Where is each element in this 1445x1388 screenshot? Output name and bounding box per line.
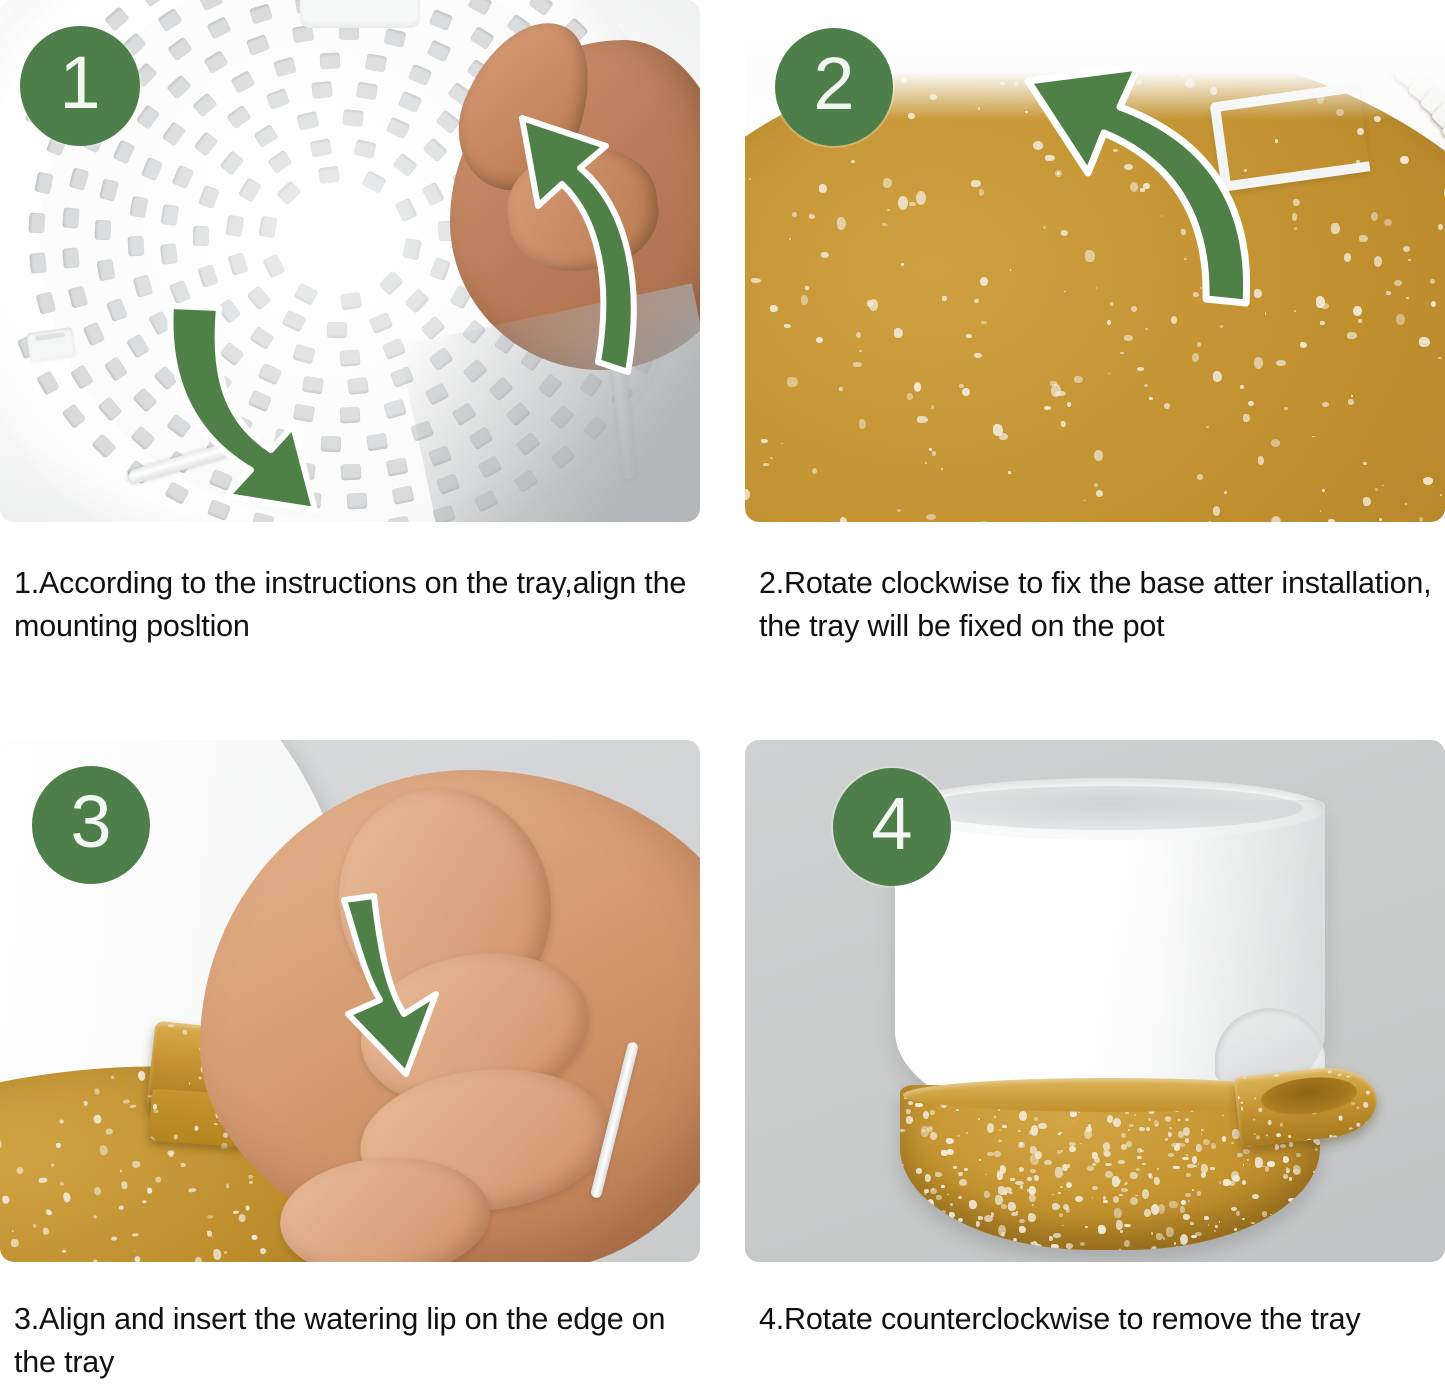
tray-speckle (1337, 1073, 1342, 1077)
tray-speckle (1243, 1076, 1246, 1079)
tray-speckle (213, 1249, 222, 1260)
tray-speckle (199, 1077, 202, 1080)
tray-hole (394, 197, 417, 222)
tray-hole (198, 185, 220, 209)
tray-speckle (959, 384, 964, 388)
tray-speckle (1053, 1233, 1061, 1237)
tray-speckle (979, 189, 985, 196)
tray-speckle (789, 238, 791, 240)
tray-speckle (974, 353, 983, 358)
tray-hole (129, 196, 148, 219)
tray-speckle (978, 1216, 983, 1219)
tray-speckle (1157, 1168, 1159, 1170)
tray-speckle (1027, 1177, 1032, 1181)
tray-speckle (1242, 1244, 1246, 1247)
tray-speckle (1156, 1233, 1163, 1240)
tray-speckle (924, 1189, 929, 1194)
tray-speckle (869, 299, 878, 310)
tray-speckle (260, 1248, 266, 1254)
tray-hole (105, 7, 131, 32)
tray-speckle (1214, 1230, 1217, 1232)
tray-speckle (1080, 1242, 1085, 1246)
tray-speckle (941, 468, 944, 470)
tray-speckle (1240, 1101, 1243, 1104)
tray-speckle (1018, 1142, 1025, 1148)
tray-speckle (770, 457, 773, 459)
tray-hole (126, 333, 150, 358)
tray-hole (194, 131, 219, 157)
tray-speckle (84, 1101, 88, 1106)
tray-speckle (1317, 1240, 1320, 1245)
tray-speckle (1201, 1164, 1208, 1173)
tray-hole (384, 27, 407, 47)
tray-speckle (1137, 1148, 1142, 1154)
tray-speckle (819, 184, 827, 193)
tray-speckle (1019, 1226, 1026, 1233)
tray-speckle (997, 1170, 1001, 1173)
tray-speckle (1232, 1175, 1240, 1183)
tray-speckle (1315, 1148, 1318, 1151)
tray-speckle (33, 1224, 37, 1228)
tray-speckle (929, 448, 932, 451)
tray-speckle (129, 1104, 136, 1108)
tray-hole (408, 63, 433, 86)
tray-speckle (1146, 1127, 1150, 1131)
step-1: 1 1.According to the instructions on the… (0, 0, 700, 670)
tray-speckle (1120, 1230, 1124, 1233)
tray-speckle (1015, 1181, 1023, 1186)
tray-speckle (1052, 1194, 1055, 1195)
tray-speckle (1183, 1214, 1190, 1219)
tray-speckle (122, 1099, 130, 1104)
tray-speckle (1121, 1188, 1128, 1192)
tray-speckle (1198, 1163, 1200, 1165)
tray-speckle (188, 1188, 196, 1193)
tray-speckle (111, 1076, 115, 1079)
tray-speckle (935, 1172, 942, 1177)
tray-hole (135, 104, 160, 130)
tray-speckle (1346, 1075, 1350, 1077)
tray-speckle (168, 1152, 173, 1157)
infographic-sheet: 1 1.According to the instructions on the… (0, 0, 1445, 1388)
tray-speckle (1087, 1166, 1093, 1171)
tray-speckle (1319, 1180, 1320, 1183)
tray-speckle (1192, 1156, 1197, 1164)
tray-speckle (979, 1159, 982, 1161)
tray-hole (392, 153, 418, 178)
tray-speckle (931, 405, 934, 408)
tray-speckle (1058, 1192, 1060, 1194)
tray-hole (320, 52, 341, 69)
tray-speckle (1268, 1241, 1274, 1245)
tray-speckle (1165, 1138, 1169, 1142)
tray-speckle (1242, 1180, 1246, 1185)
tray-speckle (1080, 1143, 1082, 1144)
tray-speckle (1338, 1115, 1343, 1120)
tray-speckle (1124, 1240, 1130, 1248)
tray-speckle (1243, 1164, 1245, 1166)
tray-speckle (1116, 1220, 1123, 1229)
tray-hole (166, 74, 192, 99)
tray-speckle (60, 1182, 64, 1186)
tray-speckle (917, 416, 927, 423)
tray-speckle (958, 1218, 963, 1222)
tray-speckle (1306, 1221, 1309, 1222)
tray-speckle (1124, 1224, 1131, 1228)
tray-hole (161, 204, 180, 226)
tray-speckle (1105, 1163, 1112, 1167)
tray-speckle (1029, 1194, 1036, 1202)
tray-hole (258, 216, 277, 238)
tray-speckle (994, 1116, 996, 1119)
tray-speckle (1253, 1119, 1256, 1121)
tray-speckle (745, 489, 750, 500)
tray-speckle (966, 1132, 968, 1134)
tray-speckle (1092, 1186, 1098, 1190)
tray-speckle (1185, 1193, 1191, 1198)
tray-speckle (1201, 1133, 1203, 1135)
tray-hole (36, 291, 56, 314)
tray-speckle (898, 196, 908, 210)
tray-hole (104, 356, 128, 382)
tray-speckle (1019, 1167, 1024, 1172)
tray-speckle (942, 1210, 946, 1213)
tray-speckle (1060, 1186, 1064, 1188)
tray-speckle (1237, 1096, 1240, 1099)
tray-speckle (1086, 1127, 1092, 1132)
tray-hole (245, 34, 269, 56)
tray-speckle (1315, 1237, 1318, 1240)
tray-speckle (1252, 1241, 1259, 1248)
tray-speckle (925, 462, 927, 464)
tray-speckle (963, 1240, 969, 1248)
tray-speckle (1119, 1194, 1123, 1197)
tray-speckle (1175, 1246, 1181, 1250)
tray-speckle (985, 1174, 987, 1175)
tray-speckle (1148, 1118, 1151, 1121)
tray-speckle (978, 1118, 980, 1120)
tray-speckle (856, 332, 861, 338)
tray-speckle (959, 1179, 967, 1186)
tray-speckle (1121, 1133, 1126, 1137)
tray-speckle (1289, 1241, 1297, 1250)
tray-speckle (1069, 1142, 1076, 1146)
tray-speckle (1142, 1163, 1146, 1165)
tray-speckle (998, 1140, 1002, 1142)
tray-hole (385, 457, 408, 477)
tray-speckle (1168, 1153, 1175, 1157)
tray-speckle (926, 514, 936, 520)
tray-speckle (936, 1195, 941, 1200)
tray-speckle (1247, 1159, 1249, 1161)
tray-speckle (821, 252, 829, 258)
tray-speckle (968, 1248, 974, 1250)
tray-speckle (984, 1215, 992, 1222)
tray-speckle (980, 521, 988, 522)
tray-speckle (134, 1250, 136, 1251)
step-number-4-badge: 4 (833, 768, 951, 886)
tray-speckle (859, 350, 862, 352)
tray-hole (68, 167, 89, 190)
tray-speckle (1266, 1134, 1268, 1137)
tray-speckle (99, 1145, 108, 1156)
tray-speckle (1030, 1169, 1036, 1173)
tray-speckle (1203, 1139, 1210, 1145)
tray-speckle (994, 1151, 1000, 1156)
tray-speckle (1274, 1228, 1276, 1230)
tray-hole (383, 399, 407, 420)
tray-speckle (930, 1243, 933, 1245)
step-number-3-badge: 3 (32, 766, 150, 884)
tray-speckle (106, 1129, 114, 1136)
tray-speckle (781, 443, 783, 444)
tray-speckle (1297, 1197, 1301, 1202)
tray-speckle (119, 1206, 124, 1211)
tray-speckle (119, 1169, 122, 1172)
tray-speckle (995, 1249, 998, 1250)
tray-speckle (1121, 1144, 1128, 1150)
tray-speckle (1144, 1209, 1151, 1216)
tray-speckle (1274, 1074, 1279, 1077)
tray-speckle (948, 1226, 955, 1232)
tray-speckle (1009, 1192, 1014, 1194)
tray-speckle (1280, 1123, 1283, 1127)
tray-speckle (909, 202, 915, 206)
tray-speckle (1222, 1136, 1227, 1142)
tray-speckle (93, 1186, 101, 1195)
tray-speckle (1268, 1120, 1272, 1126)
step-4: 4 4.Rotate counterclockwise to remove th… (745, 740, 1445, 1388)
tray-hole (365, 54, 388, 73)
tray-speckle (1066, 1243, 1073, 1249)
tray-speckle (1130, 1197, 1138, 1205)
tray-hole (226, 105, 252, 130)
tray-speckle (1169, 1201, 1177, 1208)
tray-speckle (59, 1119, 64, 1123)
tray-speckle (194, 1125, 199, 1131)
tray-speckle (1186, 1154, 1188, 1156)
tray-speckle (853, 362, 862, 367)
tray-speckle (147, 1188, 152, 1194)
step-number-3-label: 3 (70, 785, 111, 859)
tray-hole (467, 0, 492, 16)
tray-speckle (1154, 1120, 1159, 1126)
tray-speckle (1191, 1111, 1193, 1112)
tray-hole (203, 50, 228, 74)
tray-speckle (1231, 1142, 1235, 1145)
tray-speckle (999, 433, 1008, 440)
tray-hole (34, 172, 54, 195)
tray-speckle (976, 1221, 980, 1226)
tray-speckle (153, 1109, 159, 1112)
tray-hole (91, 433, 116, 458)
tray-speckle (1028, 1213, 1036, 1221)
tray-speckle (1289, 1142, 1293, 1147)
tray-speckle (947, 1149, 953, 1155)
tray-speckle (1366, 1091, 1371, 1095)
tray-speckle (1204, 1216, 1209, 1220)
tray-hole (94, 220, 111, 241)
tray-speckle (930, 1132, 936, 1140)
tray-speckle (1219, 1181, 1221, 1184)
tray-speckle (1201, 1129, 1204, 1131)
tray-speckle (1113, 1118, 1121, 1127)
tray-speckle (1231, 1238, 1235, 1241)
tray-speckle (984, 1191, 990, 1198)
tray-speckle (1275, 1144, 1279, 1150)
tray-speckle (925, 1174, 931, 1181)
tray-speckle (1051, 1244, 1059, 1250)
tray-speckle (94, 1215, 97, 1218)
tray-speckle (914, 382, 922, 392)
step-number-1-label: 1 (59, 46, 100, 120)
tray-speckle (1258, 1108, 1263, 1112)
tray-speckle (1010, 1178, 1015, 1182)
tray-speckle (51, 1164, 54, 1166)
tray-speckle (883, 178, 893, 187)
tray-speckle (1306, 1189, 1314, 1200)
tray-hole (361, 170, 386, 193)
tray-speckle (1142, 1189, 1150, 1199)
tray-speckle (957, 1135, 960, 1137)
tray-speckle (1188, 1200, 1190, 1202)
tray-speckle (1280, 1144, 1286, 1148)
tray-hole (29, 212, 46, 233)
tray-speckle (916, 1168, 923, 1174)
tray-speckle (12, 1230, 14, 1232)
tray-speckle (1019, 1219, 1025, 1223)
straight-arrow-down-icon (330, 890, 470, 1080)
tray-speckle (1350, 1102, 1355, 1105)
tray-hole (429, 9, 454, 31)
tray-speckle (1186, 1173, 1192, 1177)
tray-speckle (784, 324, 791, 328)
tray-speckle (1303, 1223, 1307, 1227)
tray-speckle (1137, 1156, 1142, 1159)
tray-hole (206, 17, 231, 40)
step-3-caption: 3.Align and insert the watering lip on t… (14, 1298, 704, 1384)
tray-speckle (233, 1210, 239, 1214)
tray-hole (309, 138, 332, 157)
tray-speckle (958, 1172, 963, 1176)
tray-speckle (999, 1129, 1001, 1131)
tray-speckle (987, 1152, 993, 1155)
tray-hole (62, 247, 80, 268)
tray-speckle (1013, 1238, 1017, 1242)
tray-speckle (1055, 1167, 1063, 1178)
tray-speckle (1139, 1127, 1145, 1132)
tray-hole (36, 370, 60, 395)
tray-speckle (894, 328, 904, 338)
tray-speckle (1062, 1225, 1064, 1226)
tray-speckle (1197, 1191, 1201, 1195)
tray-speckle (1241, 1107, 1244, 1111)
step-4-photo: 4 (745, 740, 1445, 1262)
tray-hole (378, 271, 403, 296)
tray-speckle (134, 1256, 141, 1262)
curved-arrow-clockwise-icon (1000, 45, 1260, 310)
tray-speckle (787, 377, 797, 387)
tray-speckle (887, 209, 889, 212)
tray-speckle (168, 1024, 174, 1028)
tray-speckle (43, 1227, 49, 1235)
tray-speckle (974, 299, 980, 304)
tray-hole (70, 364, 94, 389)
tray-speckle (906, 1116, 912, 1124)
tray-speckle (1219, 1221, 1221, 1223)
tray-speckle (1356, 1107, 1359, 1109)
tray-speckle (956, 1109, 958, 1111)
tray-speckle (110, 1236, 117, 1240)
tray-speckle (1119, 1249, 1121, 1250)
tray-speckle (971, 180, 980, 187)
tray-speckle (839, 387, 843, 391)
tray-hole (192, 92, 218, 117)
tray-speckle (1252, 1194, 1259, 1199)
tray-speckle (882, 223, 887, 226)
tray-hole (198, 0, 223, 12)
tray-hole (158, 8, 184, 32)
tray-speckle (238, 1214, 246, 1223)
tray-speckle (1134, 1114, 1136, 1116)
tray-speckle (987, 1123, 995, 1133)
tray-hole (311, 81, 333, 99)
tray-speckle (1178, 1119, 1180, 1121)
tray-speckle (950, 1203, 953, 1206)
tray-speckle (1183, 1127, 1190, 1136)
tray-speckle (809, 214, 815, 219)
tray-speckle (1253, 1230, 1257, 1233)
tray-speckle (1242, 1218, 1245, 1221)
tray-speckle (932, 1188, 934, 1190)
tray-speckle (998, 1225, 1006, 1236)
tray-speckle (62, 1249, 66, 1252)
tray-speckle (1210, 1167, 1216, 1171)
tray-speckle (1267, 1161, 1274, 1167)
tray-speckle (907, 393, 913, 400)
tray-speckle (812, 468, 817, 474)
tray-speckle (121, 1181, 128, 1190)
tray-speckle (1098, 1225, 1106, 1235)
tray-speckle (155, 1176, 162, 1183)
tray-speckle (1062, 1164, 1067, 1172)
tray-speckle (901, 263, 904, 266)
tray-speckle (1256, 1135, 1261, 1139)
tray-speckle (1215, 1225, 1218, 1228)
tray-hole (29, 252, 47, 273)
tray-speckle (1328, 1070, 1332, 1073)
tray-speckle (1303, 1227, 1306, 1232)
tray-speckle (1193, 1165, 1197, 1167)
tray-speckle (840, 517, 847, 522)
tray-speckle (995, 1195, 1003, 1205)
tray-hole (263, 254, 286, 279)
tray-hole (266, 88, 290, 110)
tray-speckle (902, 1164, 904, 1166)
tray-speckle (1117, 1179, 1120, 1183)
tray-hole (133, 274, 154, 298)
tray-speckle (763, 463, 768, 466)
tray-hole (353, 138, 376, 158)
tray-speckle (941, 1185, 945, 1188)
tray-speckle (207, 1230, 212, 1236)
tray-speckle (1128, 1129, 1130, 1132)
tray-speckle (1185, 1118, 1189, 1121)
tray-speckle (1313, 1171, 1317, 1173)
tray-speckle (816, 337, 824, 343)
tray-speckle (1114, 1208, 1122, 1218)
step-1-caption: 1.According to the instructions on the t… (14, 562, 704, 648)
